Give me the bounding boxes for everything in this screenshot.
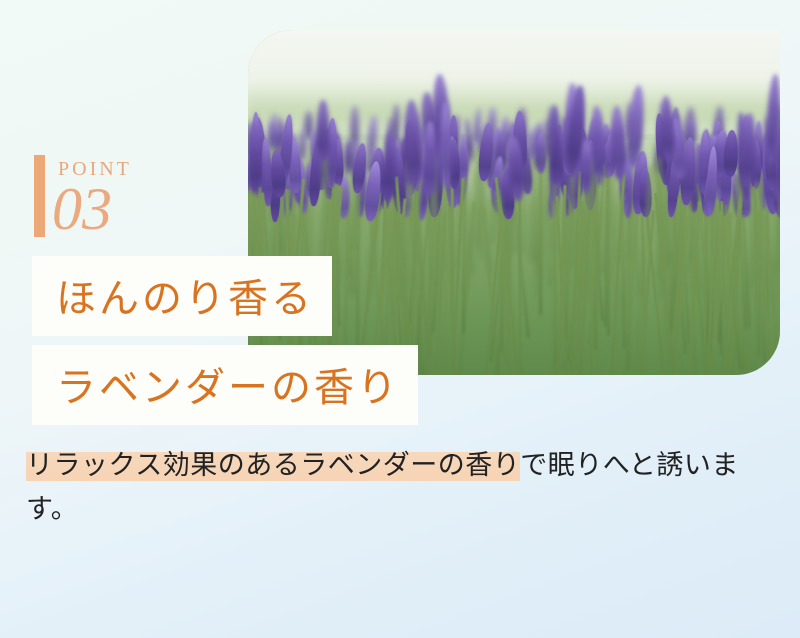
promo-panel: POINT 03 ほんのり香る ラベンダーの香り リラックス効果のあるラベンダー…: [0, 0, 800, 638]
lavender-bloom: [536, 132, 546, 173]
lavender-bloom: [549, 105, 562, 185]
lavender-bloom: [440, 101, 452, 188]
lavender-bloom: [459, 134, 468, 180]
body-highlighted-text: リラックス効果のあるラベンダーの香り: [26, 450, 520, 481]
vertical-bar-icon: [34, 155, 45, 237]
lavender-bloom: [316, 100, 329, 161]
point-number: 03: [52, 182, 132, 237]
headline-line-2: ラベンダーの香り: [32, 345, 418, 425]
headline-line-1: ほんのり香る: [32, 256, 332, 336]
body-description: リラックス効果のあるラベンダーの香りで眠りへと誘います。: [26, 444, 766, 531]
lavender-stalk: [571, 170, 575, 375]
lavender-bloom: [403, 100, 423, 186]
point-badge: POINT 03: [34, 155, 132, 237]
point-badge-text: POINT 03: [58, 155, 132, 237]
lavender-bloom: [580, 139, 592, 193]
